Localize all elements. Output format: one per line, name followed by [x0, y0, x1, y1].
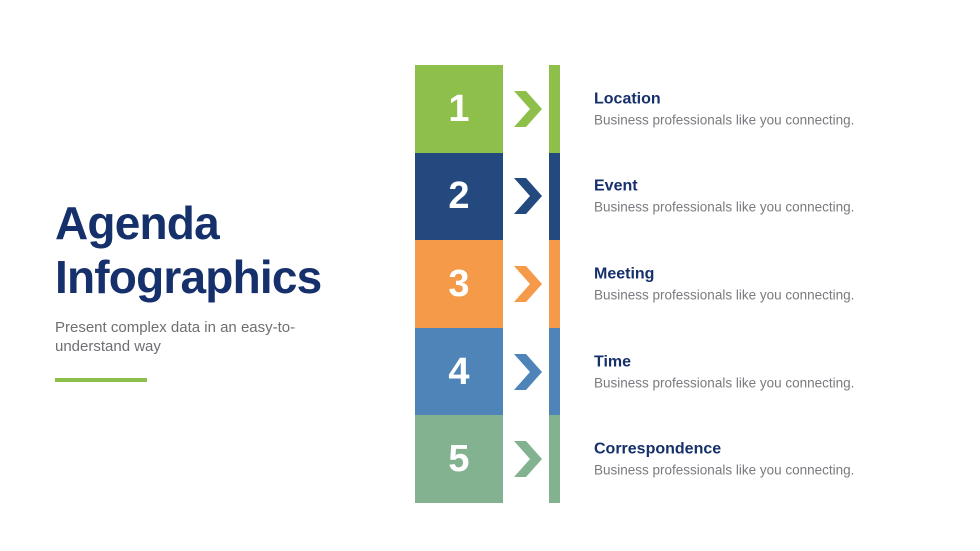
step-row[interactable]: 2 Event Business professionals like you …	[415, 153, 935, 241]
step-number-block: 4	[415, 328, 503, 416]
step-description: Business professionals like you connecti…	[594, 462, 934, 479]
step-description: Business professionals like you connecti…	[594, 199, 934, 216]
step-number: 3	[448, 265, 469, 303]
step-stripe-segment	[549, 65, 560, 153]
step-number-block: 2	[415, 153, 503, 241]
title-block: Agenda Infographics Present complex data…	[55, 196, 375, 382]
step-number: 1	[448, 90, 469, 128]
step-description: Business professionals like you connecti…	[594, 374, 934, 391]
chevron-right-icon	[512, 352, 546, 392]
page-subtitle: Present complex data in an easy-to-under…	[55, 318, 317, 356]
step-title: Event	[594, 177, 934, 197]
step-number-block: 1	[415, 65, 503, 153]
step-row[interactable]: 5 Correspondence Business professionals …	[415, 415, 935, 503]
step-stripe-segment	[549, 153, 560, 241]
step-description: Business professionals like you connecti…	[594, 111, 934, 128]
accent-rule-divider	[55, 378, 147, 382]
step-number-block: 5	[415, 415, 503, 503]
step-description: Business professionals like you connecti…	[594, 286, 934, 303]
steps-list: 1 Location Business professionals like y…	[415, 65, 935, 503]
step-row[interactable]: 3 Meeting Business professionals like yo…	[415, 240, 935, 328]
step-row[interactable]: 1 Location Business professionals like y…	[415, 65, 935, 153]
page-title-line-1: Agenda	[55, 196, 375, 250]
step-title: Time	[594, 352, 934, 372]
step-number-block: 3	[415, 240, 503, 328]
step-text-group: Time Business professionals like you con…	[594, 352, 934, 391]
step-title: Location	[594, 89, 934, 109]
chevron-right-icon	[512, 439, 546, 479]
step-text-group: Location Business professionals like you…	[594, 89, 934, 128]
step-number: 2	[448, 177, 469, 215]
chevron-right-icon	[512, 89, 546, 129]
step-number: 4	[448, 353, 469, 391]
slide-canvas: Agenda Infographics Present complex data…	[0, 0, 980, 551]
step-stripe-segment	[549, 240, 560, 328]
chevron-right-icon	[512, 264, 546, 304]
step-text-group: Event Business professionals like you co…	[594, 177, 934, 216]
step-stripe-segment	[549, 328, 560, 416]
page-title-line-2: Infographics	[55, 250, 375, 304]
step-text-group: Meeting Business professionals like you …	[594, 264, 934, 303]
step-row[interactable]: 4 Time Business professionals like you c…	[415, 328, 935, 416]
step-text-group: Correspondence Business professionals li…	[594, 440, 934, 479]
step-title: Meeting	[594, 264, 934, 284]
chevron-right-icon	[512, 176, 546, 216]
step-stripe-segment	[549, 415, 560, 503]
step-title: Correspondence	[594, 440, 934, 460]
step-number: 5	[448, 440, 469, 478]
